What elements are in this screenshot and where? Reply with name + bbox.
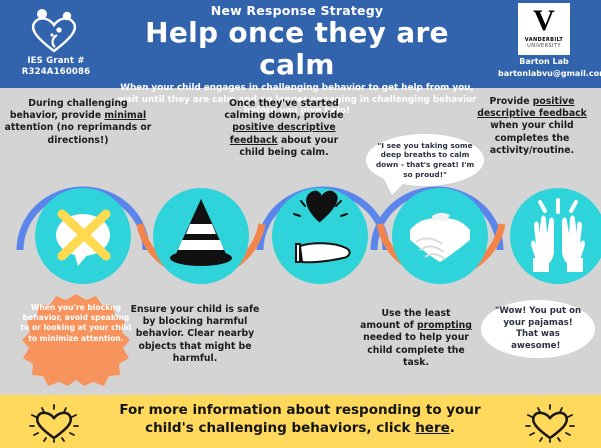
grant-label: IES Grant #	[0, 56, 112, 67]
grant-number: R324A160086	[0, 67, 112, 78]
speech-bubble-task-tail	[560, 340, 586, 353]
footer-message: For more information about responding to…	[100, 401, 500, 437]
caption-1-post: attention (no reprimands or directions!)	[5, 122, 152, 145]
university-block: V VANDERBILT UNIVERSITY Barton Lab barto…	[498, 3, 590, 79]
lab-email: bartonlabvu@gmail.com	[498, 69, 590, 79]
caption-step-5: Use the least amount of prompting needed…	[360, 308, 472, 369]
vanderbilt-v-letter: V	[518, 6, 570, 36]
no-talking-speech-bubble-icon	[56, 214, 110, 266]
caption-step-4: Ensure your child is safe by blocking ha…	[125, 304, 265, 365]
caption-step-1: During challenging behavior, provide min…	[4, 98, 152, 147]
caption-3-pre: Provide	[490, 96, 533, 107]
heart-sparkle-icon	[24, 401, 84, 443]
vanderbilt-wordmark: VANDERBILT UNIVERSITY	[518, 37, 570, 49]
caption-1-emph: minimal	[104, 110, 146, 121]
caption-4-text: Ensure your child is safe by blocking ha…	[131, 304, 260, 364]
footer-link[interactable]: here	[415, 420, 450, 436]
lab-name: Barton Lab	[498, 57, 590, 67]
starburst-text: When you're blockng behavior, avoid spea…	[20, 303, 132, 344]
step-circle-5	[510, 188, 601, 284]
grant-info: IES Grant # R324A160086	[0, 56, 112, 78]
caption-2-pre: Once they've started calming down, provi…	[224, 98, 343, 121]
caption-step-2: Once they've started calming down, provi…	[218, 98, 350, 159]
footer-banner: For more information about responding to…	[0, 395, 601, 448]
caption-5-emph: prompting	[417, 320, 472, 331]
poster-root: IES Grant # R324A160086 New Response Str…	[0, 0, 601, 448]
heart-sparkle-icon	[520, 401, 580, 443]
caption-step-3: Provide positive descriptive feedback wh…	[466, 96, 598, 157]
speech-bubble-calm-praise-text: "I see you taking some deep breaths to c…	[374, 141, 476, 179]
university-sub: UNIVERSITY	[518, 43, 570, 49]
process-flow	[0, 178, 601, 300]
footer-post: .	[450, 420, 455, 436]
page-title: Help once they are calm	[112, 17, 482, 81]
heart-with-figures-icon	[26, 8, 82, 54]
caption-3-post: when your child completes the activity/r…	[490, 120, 574, 155]
vanderbilt-logo: V VANDERBILT UNIVERSITY	[518, 3, 570, 55]
header-banner: IES Grant # R324A160086 New Response Str…	[0, 0, 601, 88]
caption-5-post: needed to help your child complete the t…	[363, 332, 469, 367]
